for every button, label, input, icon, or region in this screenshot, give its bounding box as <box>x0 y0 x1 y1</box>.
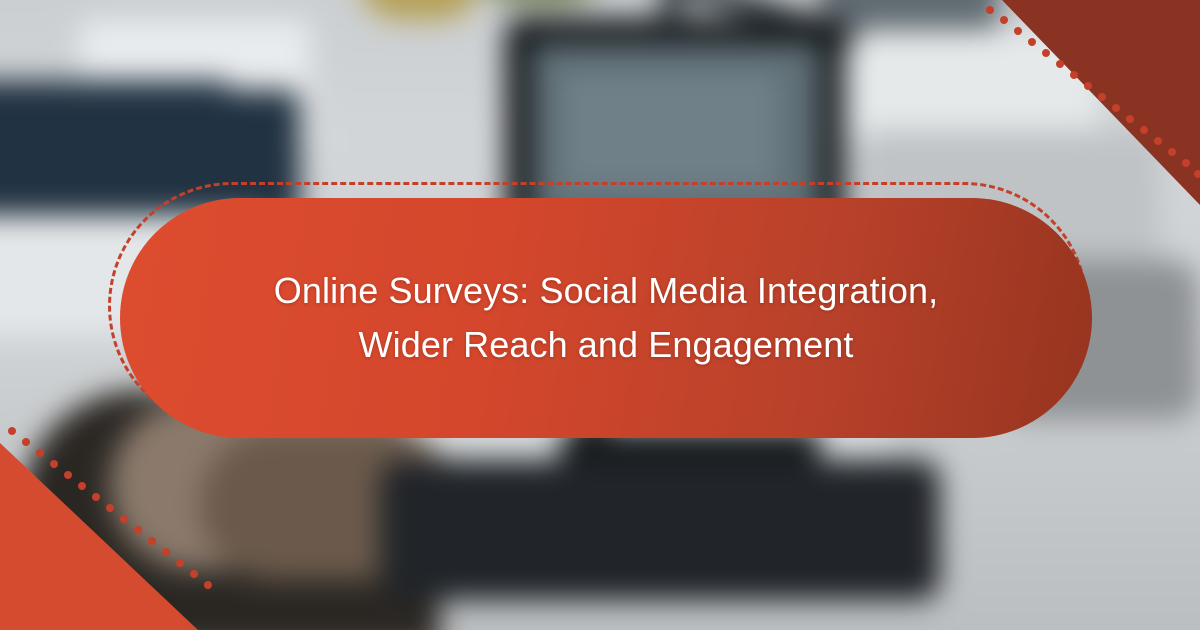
photo-bottom-dark <box>380 460 940 600</box>
corner-triangle-top-right <box>1002 0 1200 205</box>
banner-stage: Online Surveys: Social Media Integration… <box>0 0 1200 630</box>
page-title: Online Surveys: Social Media Integration… <box>274 264 938 372</box>
corner-decoration-bottom-left <box>0 415 220 630</box>
photo-monitor-screen-inner <box>560 70 780 190</box>
corner-triangle-bottom-left <box>0 443 198 630</box>
corner-decoration-top-right <box>980 0 1200 215</box>
title-card: Online Surveys: Social Media Integration… <box>120 198 1092 438</box>
